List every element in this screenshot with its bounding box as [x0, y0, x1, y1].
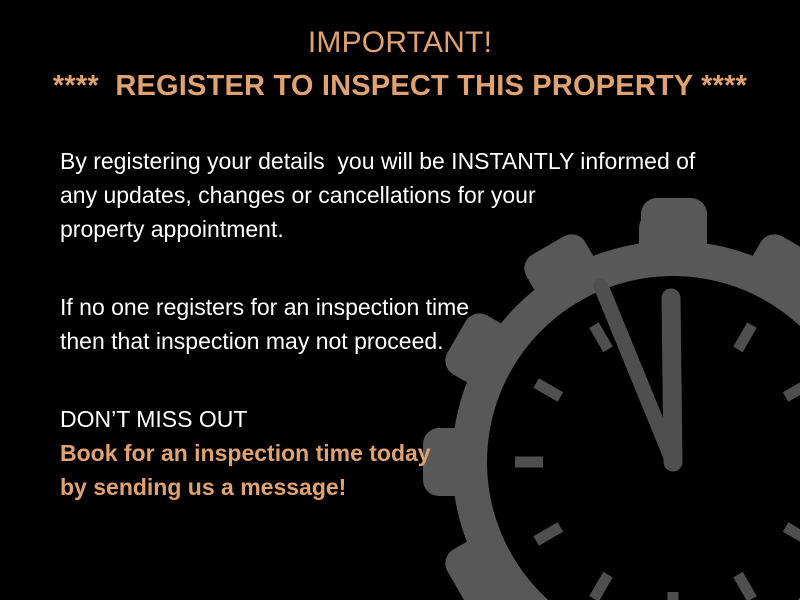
paragraph1-line2: any updates, changes or cancellations fo… — [60, 178, 720, 212]
paragraph-call-to-action: DON’T MISS OUT Book for an inspection ti… — [60, 402, 720, 504]
cta-book-inspection: Book for an inspection time today — [60, 436, 720, 470]
body-block: By registering your details you will be … — [60, 144, 720, 504]
headline-block: IMPORTANT! **** REGISTER TO INSPECT THIS… — [0, 24, 800, 106]
paragraph2-line2: then that inspection may not proceed. — [60, 324, 720, 358]
cta-dont-miss-out: DON’T MISS OUT — [60, 402, 720, 436]
paragraph2-line1: If no one registers for an inspection ti… — [60, 290, 720, 324]
paragraph1-line1: By registering your details you will be … — [60, 144, 720, 178]
paragraph-no-registrations: If no one registers for an inspection ti… — [60, 290, 720, 358]
headline-register: **** REGISTER TO INSPECT THIS PROPERTY *… — [0, 66, 800, 106]
headline-important: IMPORTANT! — [0, 24, 800, 62]
paragraph-registering-details: By registering your details you will be … — [60, 144, 720, 246]
cta-send-message: by sending us a message! — [60, 470, 720, 504]
poster-text-layer: IMPORTANT! **** REGISTER TO INSPECT THIS… — [0, 0, 800, 600]
paragraph1-line3: property appointment. — [60, 212, 720, 246]
poster-canvas: IMPORTANT! **** REGISTER TO INSPECT THIS… — [0, 0, 800, 600]
